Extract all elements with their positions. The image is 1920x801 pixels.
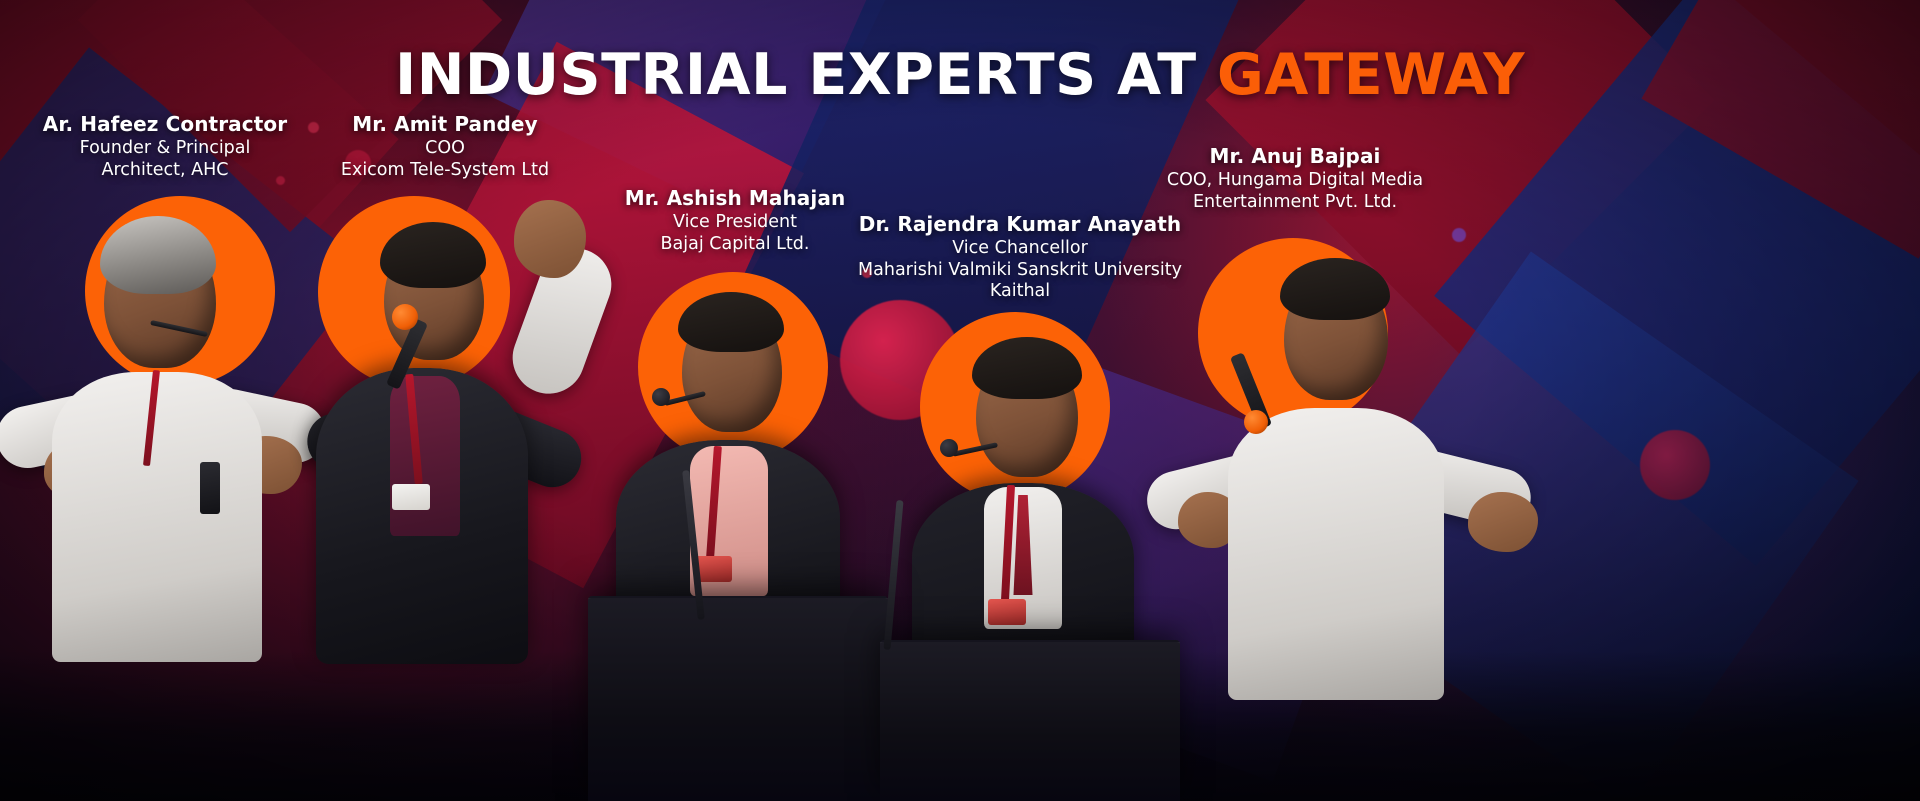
speaker-role-3-line3: Kaithal xyxy=(845,281,1195,302)
portrait-1-inner-shirt xyxy=(390,376,460,536)
page-title: INDUSTRIAL EXPERTS AT GATEWAY xyxy=(0,46,1920,106)
speaker-role-3-line2: Maharishi Valmiki Sanskrit University xyxy=(845,260,1195,281)
speaker-role-2-line1: Vice President xyxy=(590,212,880,233)
speaker-caption-2: Mr. Ashish Mahajan Vice President Bajaj … xyxy=(590,186,880,255)
speaker-name-0: Ar. Hafeez Contractor xyxy=(10,112,320,136)
bokeh-red-right xyxy=(1640,430,1710,500)
portrait-1-hair xyxy=(380,222,486,288)
portrait-2-podium-mic-head xyxy=(652,388,670,406)
portrait-3-badge xyxy=(988,599,1026,625)
portrait-0-badge xyxy=(200,462,220,514)
portrait-4-hair xyxy=(1280,258,1390,320)
speaker-role-2-line2: Bajaj Capital Ltd. xyxy=(590,234,880,255)
portrait-3-podium-mic-head xyxy=(940,439,958,457)
portrait-2-hand-raised xyxy=(514,200,586,278)
page-title-accent: GATEWAY xyxy=(1217,42,1525,108)
speaker-role-0-line1: Founder & Principal xyxy=(10,138,320,159)
portrait-1-mic-head xyxy=(392,304,418,330)
banner-stage: INDUSTRIAL EXPERTS AT GATEWAY Ar. Hafeez… xyxy=(0,0,1920,801)
portrait-2-hair xyxy=(678,292,784,352)
speaker-role-1-line2: Exicom Tele-System Ltd xyxy=(300,160,590,181)
speaker-role-4-line1: COO, Hungama Digital Media xyxy=(1130,170,1460,191)
portrait-4-hand-right xyxy=(1468,492,1538,552)
lectern-center xyxy=(588,596,888,801)
speaker-caption-4: Mr. Anuj Bajpai COO, Hungama Digital Med… xyxy=(1130,144,1460,213)
speaker-role-1-line1: COO xyxy=(300,138,590,159)
portrait-4-mic-head xyxy=(1244,410,1268,434)
speaker-caption-0: Ar. Hafeez Contractor Founder & Principa… xyxy=(10,112,320,181)
page-title-main: INDUSTRIAL EXPERTS AT xyxy=(395,42,1217,108)
portrait-0-shirt xyxy=(52,372,262,662)
speaker-role-3-line1: Vice Chancellor xyxy=(845,238,1195,259)
portrait-1-badge xyxy=(392,484,430,510)
speaker-role-0-line2: Architect, AHC xyxy=(10,160,320,181)
portrait-0-hair xyxy=(100,216,216,294)
speaker-portrait-4 xyxy=(1150,240,1550,700)
speaker-name-4: Mr. Anuj Bajpai xyxy=(1130,144,1460,168)
lectern-right xyxy=(880,640,1180,801)
speaker-name-3: Dr. Rajendra Kumar Anayath xyxy=(845,212,1195,236)
portrait-3-hair xyxy=(972,337,1082,399)
speaker-name-1: Mr. Amit Pandey xyxy=(300,112,590,136)
speaker-caption-1: Mr. Amit Pandey COO Exicom Tele-System L… xyxy=(300,112,590,181)
speaker-caption-3: Dr. Rajendra Kumar Anayath Vice Chancell… xyxy=(845,212,1195,302)
speaker-role-4-line2: Entertainment Pvt. Ltd. xyxy=(1130,192,1460,213)
portrait-4-shirt xyxy=(1228,408,1444,700)
speaker-name-2: Mr. Ashish Mahajan xyxy=(590,186,880,210)
